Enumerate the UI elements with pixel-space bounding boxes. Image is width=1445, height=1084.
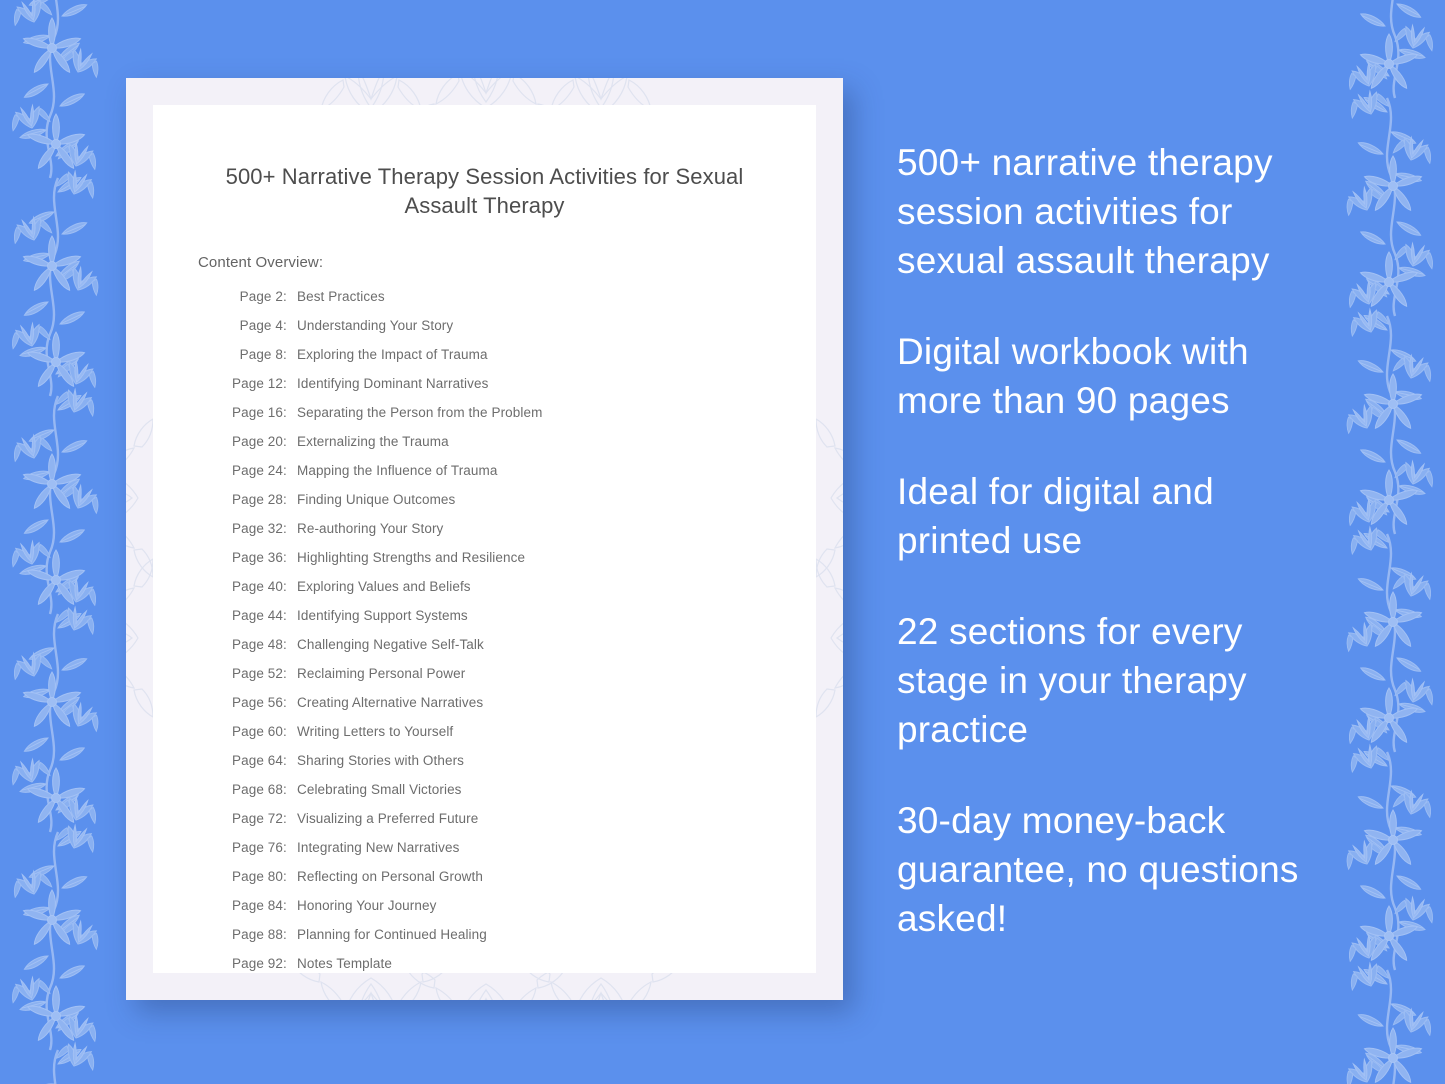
- toc-entry-title: Creating Alternative Narratives: [297, 695, 816, 710]
- toc-entry: Page 60:Writing Letters to Yourself: [221, 724, 816, 753]
- toc-entry-page: Page 8: [221, 347, 283, 362]
- toc-entry-colon: :: [283, 782, 297, 797]
- toc-entry-colon: :: [283, 869, 297, 884]
- toc-entry-colon: :: [283, 521, 297, 536]
- toc-entry-page: Page 4: [221, 318, 283, 333]
- toc-entry-page: Page 24: [221, 463, 283, 478]
- toc-entry: Page 88:Planning for Continued Healing: [221, 927, 816, 956]
- toc-entry-page: Page 72: [221, 811, 283, 826]
- toc-entry: Page 48:Challenging Negative Self-Talk: [221, 637, 816, 666]
- toc-entry-colon: :: [283, 579, 297, 594]
- marketing-block: Ideal for digital and printed use: [897, 467, 1327, 565]
- toc-entry-page: Page 36: [221, 550, 283, 565]
- toc-entry-page: Page 64: [221, 753, 283, 768]
- toc-entry-title: Identifying Dominant Narratives: [297, 376, 816, 391]
- toc-entry-title: Notes Template: [297, 956, 816, 971]
- toc-entry-page: Page 76: [221, 840, 283, 855]
- toc-entry: Page 64:Sharing Stories with Others: [221, 753, 816, 782]
- toc-entry: Page 12:Identifying Dominant Narratives: [221, 376, 816, 405]
- marketing-copy: 500+ narrative therapy session activitie…: [897, 138, 1327, 943]
- toc-entry: Page 2:Best Practices: [221, 289, 816, 318]
- toc-entry-title: Planning for Continued Healing: [297, 927, 816, 942]
- toc-entry: Page 76:Integrating New Narratives: [221, 840, 816, 869]
- product-graphic: 500+ Narrative Therapy Session Activitie…: [0, 0, 1445, 1084]
- toc-entry-title: Exploring the Impact of Trauma: [297, 347, 816, 362]
- marketing-block: 22 sections for every stage in your ther…: [897, 607, 1327, 754]
- toc-entry-page: Page 20: [221, 434, 283, 449]
- toc-entry-title: Honoring Your Journey: [297, 898, 816, 913]
- toc-entry-title: Celebrating Small Victories: [297, 782, 816, 797]
- toc-entry: Page 84:Honoring Your Journey: [221, 898, 816, 927]
- toc-entry-title: Understanding Your Story: [297, 318, 816, 333]
- toc-entry-page: Page 88: [221, 927, 283, 942]
- toc-entry: Page 8:Exploring the Impact of Trauma: [221, 347, 816, 376]
- toc-entry-title: Sharing Stories with Others: [297, 753, 816, 768]
- floral-vine-border-icon-left: [0, 0, 128, 1084]
- toc-entry-colon: :: [283, 724, 297, 739]
- marketing-block: 500+ narrative therapy session activitie…: [897, 138, 1327, 285]
- toc-entry-colon: :: [283, 550, 297, 565]
- toc-entry: Page 40:Exploring Values and Beliefs: [221, 579, 816, 608]
- toc-entry-colon: :: [283, 608, 297, 623]
- toc-entry-colon: :: [283, 347, 297, 362]
- floral-vine-border-icon-right: [1317, 0, 1445, 1084]
- toc-entry-title: Reflecting on Personal Growth: [297, 869, 816, 884]
- toc-entry-colon: :: [283, 840, 297, 855]
- toc-entry-page: Page 48: [221, 637, 283, 652]
- toc-entry-colon: :: [283, 289, 297, 304]
- toc-entry-title: Externalizing the Trauma: [297, 434, 816, 449]
- toc-entry: Page 4:Understanding Your Story: [221, 318, 816, 347]
- toc-entry-title: Visualizing a Preferred Future: [297, 811, 816, 826]
- content-overview-label: Content Overview:: [153, 220, 816, 273]
- toc-entry-title: Re-authoring Your Story: [297, 521, 816, 536]
- toc-entry-page: Page 80: [221, 869, 283, 884]
- toc-entry-colon: :: [283, 956, 297, 971]
- toc-entry: Page 52:Reclaiming Personal Power: [221, 666, 816, 695]
- toc-entry-title: Highlighting Strengths and Resilience: [297, 550, 816, 565]
- toc-entry: Page 92:Notes Template: [221, 956, 816, 973]
- toc-entry-colon: :: [283, 695, 297, 710]
- toc-entry-title: Separating the Person from the Problem: [297, 405, 816, 420]
- toc-entry-page: Page 16: [221, 405, 283, 420]
- table-of-contents: Page 2:Best PracticesPage 4:Understandin…: [153, 273, 816, 973]
- toc-entry-page: Page 92: [221, 956, 283, 971]
- toc-entry-title: Exploring Values and Beliefs: [297, 579, 816, 594]
- toc-entry-page: Page 28: [221, 492, 283, 507]
- toc-entry-colon: :: [283, 637, 297, 652]
- toc-entry-colon: :: [283, 376, 297, 391]
- toc-entry-page: Page 84: [221, 898, 283, 913]
- toc-entry-page: Page 2: [221, 289, 283, 304]
- toc-entry: Page 20:Externalizing the Trauma: [221, 434, 816, 463]
- toc-entry-page: Page 40: [221, 579, 283, 594]
- toc-entry-colon: :: [283, 492, 297, 507]
- toc-entry-title: Integrating New Narratives: [297, 840, 816, 855]
- toc-entry: Page 16:Separating the Person from the P…: [221, 405, 816, 434]
- toc-entry: Page 36:Highlighting Strengths and Resil…: [221, 550, 816, 579]
- toc-entry: Page 44:Identifying Support Systems: [221, 608, 816, 637]
- toc-entry-colon: :: [283, 898, 297, 913]
- toc-entry-page: Page 44: [221, 608, 283, 623]
- toc-entry: Page 28:Finding Unique Outcomes: [221, 492, 816, 521]
- toc-entry-page: Page 32: [221, 521, 283, 536]
- toc-entry: Page 56:Creating Alternative Narratives: [221, 695, 816, 724]
- toc-entry-colon: :: [283, 666, 297, 681]
- toc-entry-title: Best Practices: [297, 289, 816, 304]
- marketing-block: 30-day money-back guarantee, no question…: [897, 796, 1327, 943]
- toc-entry-colon: :: [283, 753, 297, 768]
- toc-entry-title: Mapping the Influence of Trauma: [297, 463, 816, 478]
- document-card: 500+ Narrative Therapy Session Activitie…: [126, 78, 843, 1000]
- page-sheet: 500+ Narrative Therapy Session Activitie…: [153, 105, 816, 973]
- toc-entry-colon: :: [283, 463, 297, 478]
- toc-entry-page: Page 60: [221, 724, 283, 739]
- marketing-block: Digital workbook with more than 90 pages: [897, 327, 1327, 425]
- page-title: 500+ Narrative Therapy Session Activitie…: [153, 105, 816, 220]
- toc-entry-page: Page 12: [221, 376, 283, 391]
- toc-entry-title: Reclaiming Personal Power: [297, 666, 816, 681]
- toc-entry-page: Page 56: [221, 695, 283, 710]
- toc-entry-page: Page 68: [221, 782, 283, 797]
- toc-entry-title: Writing Letters to Yourself: [297, 724, 816, 739]
- toc-entry: Page 72:Visualizing a Preferred Future: [221, 811, 816, 840]
- toc-entry: Page 80:Reflecting on Personal Growth: [221, 869, 816, 898]
- toc-entry-colon: :: [283, 405, 297, 420]
- toc-entry-title: Challenging Negative Self-Talk: [297, 637, 816, 652]
- toc-entry-colon: :: [283, 811, 297, 826]
- toc-entry: Page 24:Mapping the Influence of Trauma: [221, 463, 816, 492]
- toc-entry: Page 32:Re-authoring Your Story: [221, 521, 816, 550]
- toc-entry: Page 68:Celebrating Small Victories: [221, 782, 816, 811]
- toc-entry-title: Identifying Support Systems: [297, 608, 816, 623]
- toc-entry-colon: :: [283, 927, 297, 942]
- toc-entry-page: Page 52: [221, 666, 283, 681]
- toc-entry-colon: :: [283, 434, 297, 449]
- toc-entry-title: Finding Unique Outcomes: [297, 492, 816, 507]
- toc-entry-colon: :: [283, 318, 297, 333]
